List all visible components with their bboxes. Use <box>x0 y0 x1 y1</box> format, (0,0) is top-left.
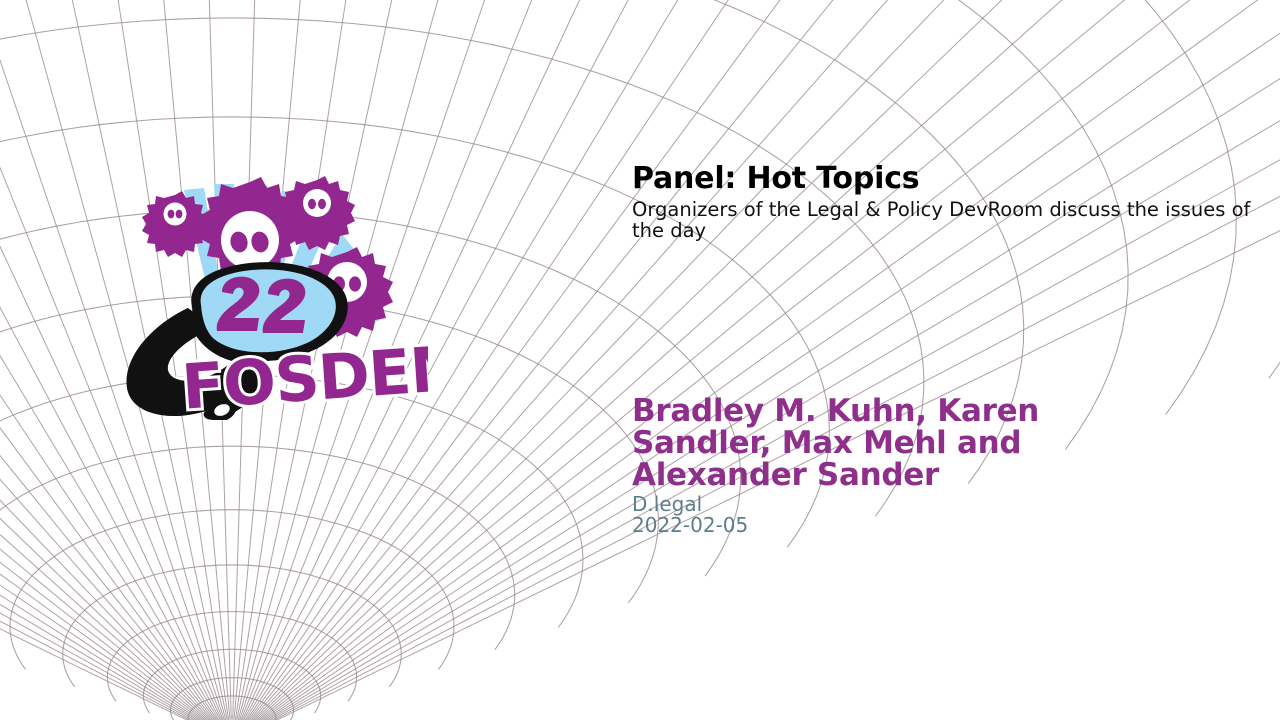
slide-subtitle: Organizers of the Legal & Policy DevRoom… <box>632 199 1268 242</box>
slide-header: Panel: Hot Topics Organizers of the Lega… <box>632 162 1272 241</box>
slide-date: 2022-02-05 <box>632 515 1152 536</box>
author-affiliation: D.legal <box>632 494 1152 515</box>
author-names: Bradley M. Kuhn, Karen Sandler, Max Mehl… <box>632 396 1152 492</box>
presentation-slide: FOSDEM FOSDEM Panel: Hot Topics Organize… <box>0 0 1280 720</box>
slide-authors-block: Bradley M. Kuhn, Karen Sandler, Max Mehl… <box>632 396 1152 537</box>
fosdem-logo: FOSDEM FOSDEM <box>118 168 428 420</box>
slide-title: Panel: Hot Topics <box>632 162 1272 196</box>
